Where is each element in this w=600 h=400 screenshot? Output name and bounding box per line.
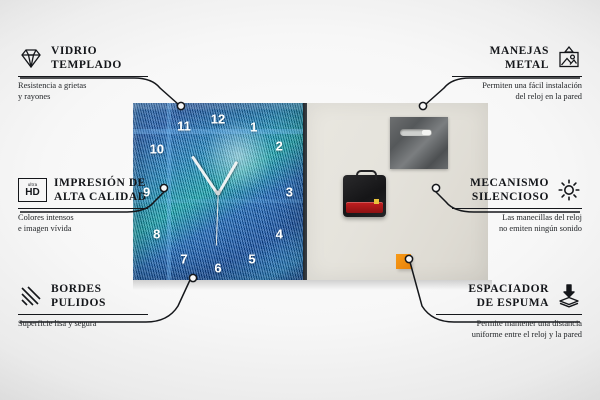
gear-icon: [556, 177, 582, 203]
feature-mecanismo-silencioso[interactable]: MECANISMO SILENCIOSO Las manecillas del …: [452, 176, 582, 235]
battery-compartment: [346, 202, 383, 213]
feature-title: VIDRIO TEMPLADO: [51, 44, 122, 73]
feature-divider: [18, 314, 148, 315]
feature-divider: [18, 208, 148, 209]
feature-title: BORDES PULIDOS: [51, 282, 106, 311]
feature-title: IMPRESIÓN DE ALTA CALIDAD: [54, 176, 147, 205]
feature-header: VIDRIO TEMPLADO: [18, 44, 148, 73]
clock-numeral-2: 2: [276, 140, 283, 153]
clock-numeral-12: 12: [211, 113, 225, 126]
arrow-down-layers-icon: [556, 283, 582, 309]
feature-header: MECANISMO SILENCIOSO: [452, 176, 582, 205]
product-photo: 12 1 2 3 4 5 6 7 8 9 10 11: [133, 103, 488, 280]
feature-impresion-alta-calidad[interactable]: ultra HD IMPRESIÓN DE ALTA CALIDAD Color…: [18, 176, 148, 235]
feature-header: ultra HD IMPRESIÓN DE ALTA CALIDAD: [18, 176, 148, 205]
ultra-hd-icon: ultra HD: [18, 178, 47, 202]
clock-second-hand: [216, 194, 219, 246]
clock-numeral-1: 1: [250, 121, 257, 134]
clock-numeral-11: 11: [177, 120, 191, 133]
feature-description: Resistencia a grietas y rayones: [18, 80, 148, 103]
metal-hanger-plate: [390, 117, 448, 169]
hanger-slot: [400, 129, 432, 136]
clock-numeral-5: 5: [248, 252, 255, 265]
clock-numeral-9: 9: [143, 185, 150, 198]
clock-numeral-10: 10: [150, 143, 164, 156]
clock-numeral-4: 4: [276, 227, 283, 240]
clock-numeral-3: 3: [286, 185, 293, 198]
feature-bordes-pulidos[interactable]: BORDES PULIDOS Superficie lisa y segura: [18, 282, 148, 329]
clock-center-pin: [216, 191, 221, 196]
clock-numeral-8: 8: [153, 227, 160, 240]
foam-spacer: [396, 254, 411, 269]
diagonal-lines-icon: [18, 283, 44, 309]
quartz-movement: [343, 175, 386, 217]
feature-title: MECANISMO SILENCIOSO: [470, 176, 549, 205]
movement-hook: [356, 170, 377, 180]
feature-divider: [452, 208, 582, 209]
clock-numeral-6: 6: [214, 261, 221, 274]
feature-title: MANEJAS METAL: [490, 44, 549, 73]
feature-divider: [436, 314, 582, 315]
feature-manejas-metal[interactable]: MANEJAS METAL Permiten una fácil instala…: [452, 44, 582, 103]
feature-divider: [452, 76, 582, 77]
clock-numeral-7: 7: [180, 252, 187, 265]
feature-description: Colores intensos e imagen vívida: [18, 212, 148, 235]
feature-header: MANEJAS METAL: [452, 44, 582, 73]
face-pattern-line: [167, 103, 171, 280]
feature-espaciador-espuma[interactable]: ESPACIADOR DE ESPUMA Permite mantener un…: [436, 282, 582, 341]
feature-header: BORDES PULIDOS: [18, 282, 148, 311]
infographic-canvas: 12 1 2 3 4 5 6 7 8 9 10 11: [0, 0, 600, 400]
feature-description: Las manecillas del reloj no emiten ningú…: [452, 212, 582, 235]
feature-divider: [18, 76, 148, 77]
feature-vidrio-templado[interactable]: VIDRIO TEMPLADO Resistencia a grietas y …: [18, 44, 148, 103]
feature-description: Permiten una fácil instalación del reloj…: [452, 80, 582, 103]
clock-hour-hand: [217, 161, 239, 196]
clock-minute-hand: [191, 156, 219, 196]
framed-picture-icon: [556, 45, 582, 71]
clock-face: 12 1 2 3 4 5 6 7 8 9 10 11: [133, 103, 303, 280]
feature-title: ESPACIADOR DE ESPUMA: [468, 282, 549, 311]
diamond-icon: [18, 45, 44, 71]
feature-header: ESPACIADOR DE ESPUMA: [436, 282, 582, 311]
face-pattern-line: [133, 129, 303, 134]
feature-description: Permite mantener una distancia uniforme …: [436, 318, 582, 341]
feature-description: Superficie lisa y segura: [18, 318, 148, 329]
